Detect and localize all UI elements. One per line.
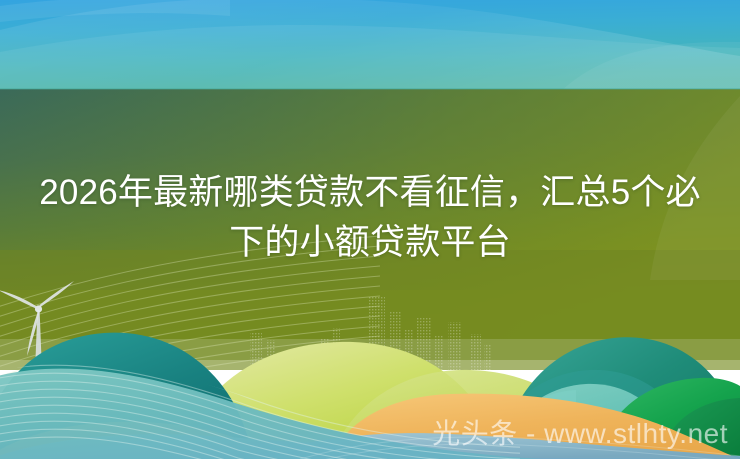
article-cover-image: 2026年最新哪类贷款不看征信，汇总5个必下的小额贷款平台 光头条 - www.…	[0, 0, 740, 459]
horizon-band	[0, 88, 740, 89]
scene-artboard	[0, 0, 740, 459]
